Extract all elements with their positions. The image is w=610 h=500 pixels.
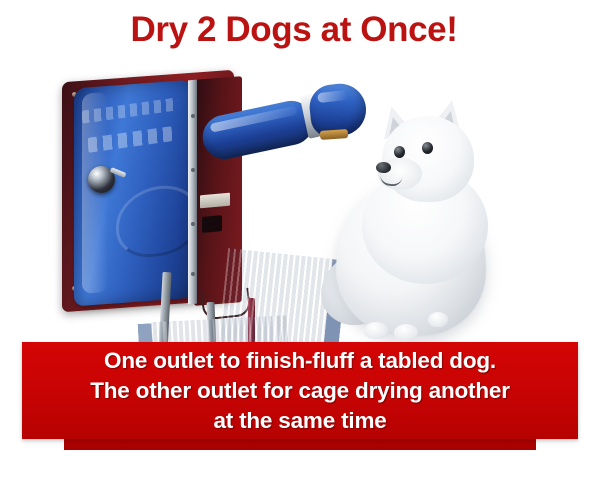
- trim-rivet-icon: [191, 168, 195, 172]
- dog-paw: [428, 312, 448, 327]
- spec-label: [200, 193, 230, 209]
- caption-line-3: at the same time: [22, 406, 578, 436]
- power-switch[interactable]: [202, 215, 222, 233]
- dog-eye: [422, 142, 433, 154]
- page-title: Dry 2 Dogs at Once!: [0, 10, 610, 50]
- dog-paw: [364, 322, 388, 339]
- promo-poster: Dry 2 Dogs at Once!: [0, 0, 610, 500]
- caption-text: One outlet to finish-fluff a tabled dog.…: [22, 346, 578, 436]
- dog-nose: [376, 162, 391, 173]
- dog-eye: [394, 146, 405, 158]
- product-photo: [0, 58, 610, 348]
- trim-rivet-icon: [191, 272, 195, 276]
- caption-line-1: One outlet to finish-fluff a tabled dog.: [22, 346, 578, 376]
- pomeranian-dog: [318, 84, 518, 350]
- trim-rivet-icon: [191, 114, 195, 118]
- caption-line-2: The other outlet for cage drying another: [22, 376, 578, 406]
- dog-dryer-unit: [52, 58, 322, 348]
- dog-paw: [394, 324, 418, 341]
- trim-rivet-icon: [191, 222, 195, 226]
- caption-banner: One outlet to finish-fluff a tabled dog.…: [0, 340, 610, 458]
